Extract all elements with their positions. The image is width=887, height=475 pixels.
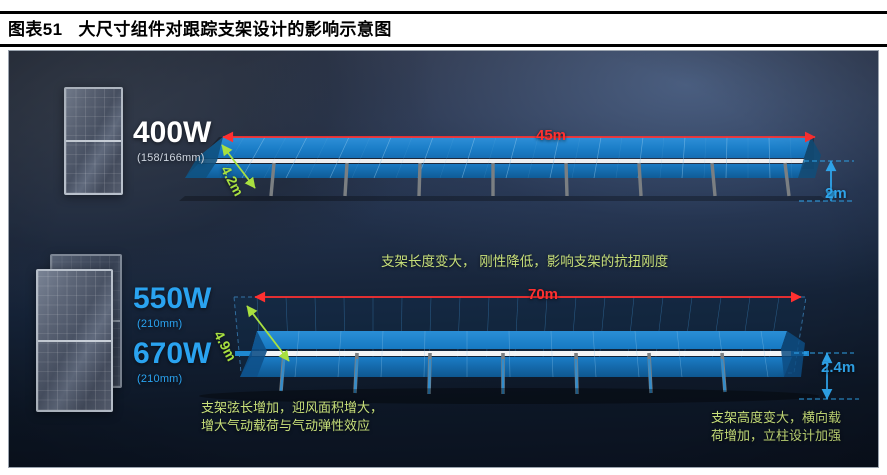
- figure-title-bar: 图表51大尺寸组件对跟踪支架设计的影响示意图: [0, 0, 887, 48]
- dimension-label-length-large: 70m: [528, 286, 558, 303]
- tracker-large: [199, 297, 819, 404]
- module-power-670w: 670W: [133, 337, 211, 370]
- module-power-400w: 400W: [133, 116, 211, 149]
- pv-module-550w: [36, 269, 113, 412]
- figure-title: 大尺寸组件对跟踪支架设计的影响示意图: [79, 20, 392, 39]
- module-midbar: [38, 340, 111, 342]
- module-power-550w: 550W: [133, 282, 211, 315]
- dimension-label-height-small: 2m: [825, 185, 847, 202]
- note-wind-load-line1: 支架弦长增加，迎风面积增大，: [201, 399, 383, 417]
- module-label-400w: 400W (158/166mm): [133, 118, 211, 164]
- note-post-design: 支架高度变大，横向载 荷增加，立柱设计加强: [711, 409, 841, 445]
- page-title: 图表51大尺寸组件对跟踪支架设计的影响示意图: [8, 15, 392, 40]
- illustration-canvas: 400W (158/166mm) 550W (210mm) 670W (210m…: [8, 50, 879, 468]
- tracker-small: [179, 137, 827, 201]
- note-wind-load: 支架弦长增加，迎风面积增大， 增大气动载荷与气动弹性效应: [201, 399, 383, 435]
- module-cellsize-670w: (210mm): [137, 373, 211, 385]
- note-wind-load-line2: 增大气动载荷与气动弹性效应: [201, 417, 383, 435]
- figure-number: 图表51: [8, 20, 63, 39]
- dimension-label-height-large: 2.4m: [821, 359, 855, 376]
- module-cellsize-400w: (158/166mm): [137, 152, 211, 164]
- title-rule-top: [0, 11, 887, 14]
- dimension-label-length-small: 45m: [536, 127, 566, 144]
- note-stiffness: 支架长度变大， 刚性降低，影响支架的抗扭刚度: [381, 253, 668, 271]
- module-cellsize-550w: (210mm): [137, 318, 211, 330]
- module-label-670w: 670W (210mm): [133, 339, 211, 385]
- module-midbar: [66, 140, 121, 142]
- note-post-design-line1: 支架高度变大，横向载: [711, 409, 841, 427]
- note-post-design-line2: 荷增加，立柱设计加强: [711, 427, 841, 445]
- pv-module-400w: [64, 87, 123, 195]
- module-label-550w: 550W (210mm): [133, 284, 211, 330]
- title-rule-bottom: [0, 44, 887, 47]
